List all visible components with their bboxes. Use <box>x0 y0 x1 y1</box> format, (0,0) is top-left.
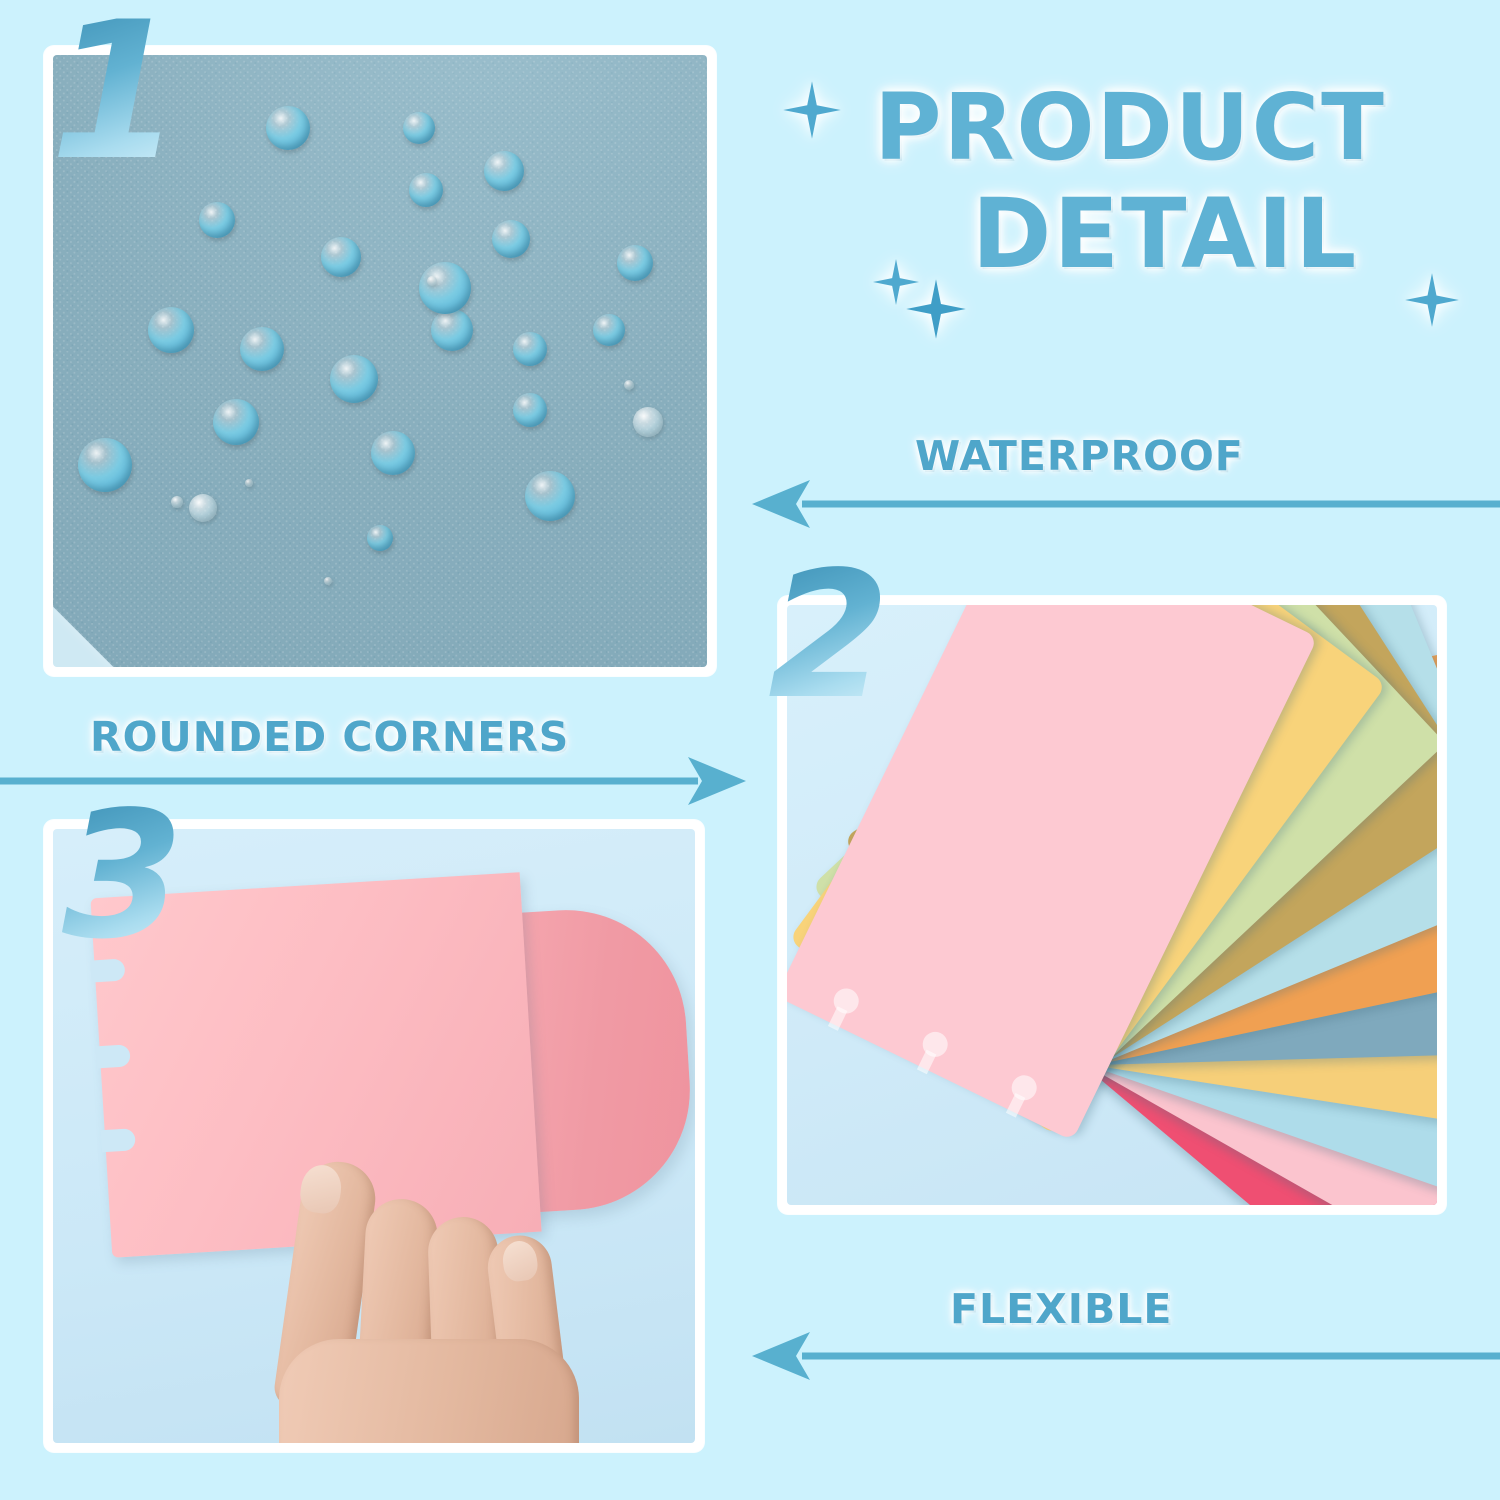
water-droplet <box>321 237 361 277</box>
feature-label-waterproof: WATERPROOF <box>915 432 1244 480</box>
water-droplet <box>431 309 473 351</box>
mushroom-punch-hole <box>999 1072 1044 1117</box>
arrow-right-icon-rounded-corners <box>0 755 748 807</box>
rounded-corners-photo <box>53 829 695 1443</box>
water-droplet <box>266 106 310 150</box>
hand-holding-card <box>203 1159 603 1443</box>
water-droplet-micro <box>245 479 253 487</box>
feature-label-rounded-corners: ROUNDED CORNERS <box>90 713 569 761</box>
water-droplet <box>633 407 663 437</box>
infographic-canvas: PRODUCT DETAIL 1 2 3 <box>0 0 1500 1500</box>
flexible-cards-photo-panel <box>778 596 1446 1214</box>
water-droplet <box>484 151 524 191</box>
title-line-1: PRODUCT <box>760 82 1500 174</box>
feature-label-flexible: FLEXIBLE <box>950 1285 1172 1333</box>
water-droplet <box>525 471 575 521</box>
water-droplet <box>148 307 194 353</box>
mushroom-punch-hole <box>821 985 866 1030</box>
waterproof-photo-panel <box>44 46 716 676</box>
water-droplet <box>419 262 471 314</box>
flexible-cards-photo <box>787 605 1437 1205</box>
title-line-2: DETAIL <box>830 186 1500 282</box>
water-droplet <box>240 327 284 371</box>
water-droplet <box>492 220 530 258</box>
rounded-corners-photo-panel <box>44 820 704 1452</box>
waterproof-photo <box>53 55 707 667</box>
water-droplet-micro <box>171 496 183 508</box>
punch-hole <box>101 1128 136 1152</box>
water-droplet-micro <box>624 380 634 390</box>
water-droplet <box>513 332 547 366</box>
water-droplet-micro <box>324 577 332 585</box>
four-point-star-icon <box>905 278 967 340</box>
punch-hole <box>95 1044 130 1068</box>
arrow-left-icon-flexible <box>750 1330 1500 1382</box>
water-droplet <box>367 525 393 551</box>
water-droplet-group <box>53 55 707 667</box>
water-droplet <box>593 314 625 346</box>
water-droplet <box>513 393 547 427</box>
palm <box>279 1339 579 1443</box>
page-title: PRODUCT DETAIL <box>760 82 1500 282</box>
water-droplet <box>78 438 132 492</box>
punch-hole <box>90 959 125 983</box>
water-droplet <box>189 494 217 522</box>
water-droplet <box>371 431 415 475</box>
mushroom-punch-hole <box>910 1029 955 1074</box>
water-droplet <box>330 355 378 403</box>
water-droplet <box>199 202 235 238</box>
water-droplet <box>617 245 653 281</box>
water-droplet <box>403 112 435 144</box>
water-droplet <box>409 173 443 207</box>
arrow-left-icon-waterproof <box>750 478 1500 530</box>
water-droplet <box>213 399 259 445</box>
